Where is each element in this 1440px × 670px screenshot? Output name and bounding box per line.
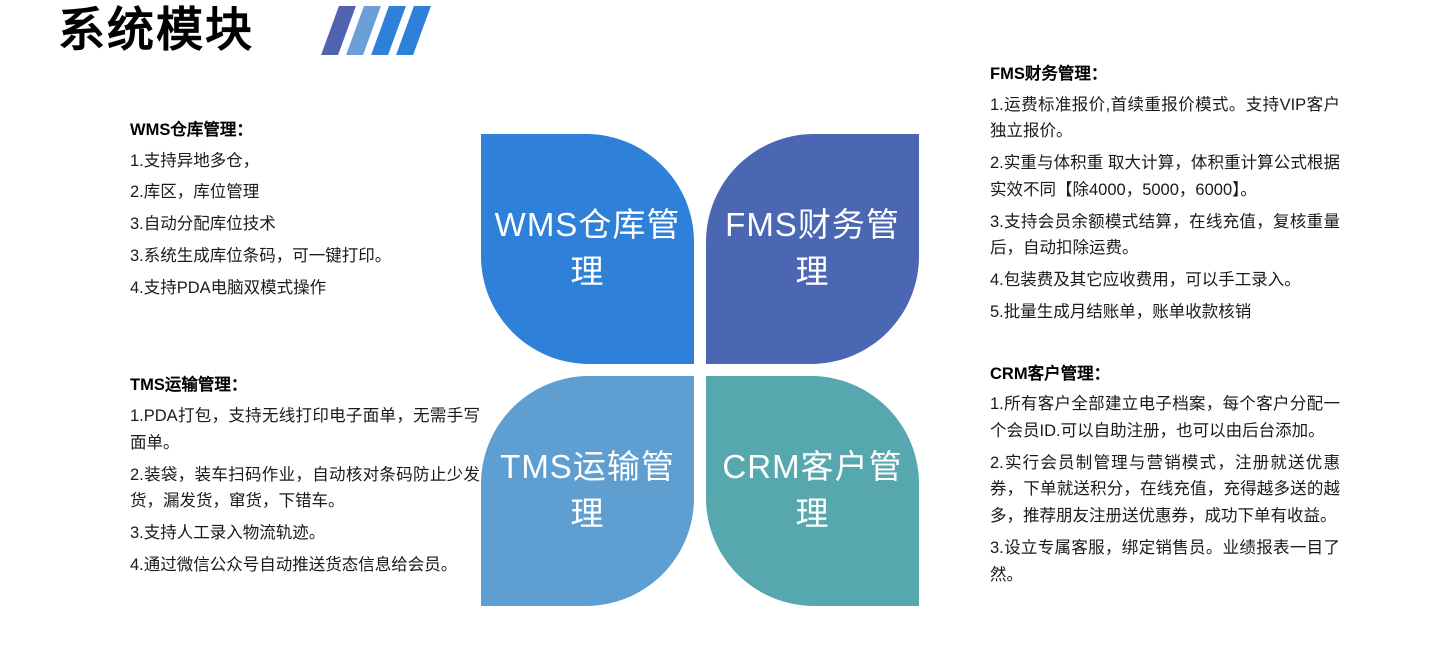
section-tms-item: 4.通过微信公众号自动推送货态信息给会员。 (130, 552, 480, 579)
section-fms: FMS财务管理： 1.运费标准报价,首续重报价模式。支持VIP客户独立报价。 2… (990, 62, 1340, 326)
section-wms-heading: WMS仓库管理： (130, 118, 480, 143)
petal-crm-label: CRM客户管理 (718, 444, 907, 538)
petal-wms-label: WMS仓库管理 (493, 202, 682, 296)
section-tms-item: 3.支持人工录入物流轨迹。 (130, 520, 480, 547)
section-crm-item: 3.设立专属客服，绑定销售员。业绩报表一目了然。 (990, 535, 1340, 588)
petal-fms[interactable]: FMS财务管理 (706, 134, 919, 364)
section-wms: WMS仓库管理： 1.支持异地多仓， 2.库区，库位管理 3.自动分配库位技术 … (130, 118, 480, 301)
section-wms-item: 3.自动分配库位技术 (130, 211, 480, 238)
section-fms-item: 4.包装费及其它应收费用，可以手工录入。 (990, 267, 1340, 294)
section-tms-item: 1.PDA打包，支持无线打印电子面单，无需手写面单。 (130, 403, 480, 456)
section-fms-item: 1.运费标准报价,首续重报价模式。支持VIP客户独立报价。 (990, 92, 1340, 145)
petal-tms[interactable]: TMS运输管理 (481, 376, 694, 606)
section-tms: TMS运输管理： 1.PDA打包，支持无线打印电子面单，无需手写面单。 2.装袋… (130, 373, 480, 578)
section-wms-item: 1.支持异地多仓， (130, 148, 480, 175)
right-text-column: FMS财务管理： 1.运费标准报价,首续重报价模式。支持VIP客户独立报价。 2… (990, 62, 1340, 593)
section-wms-item: 2.库区，库位管理 (130, 179, 480, 206)
section-fms-heading: FMS财务管理： (990, 62, 1340, 87)
petal-tms-label: TMS运输管理 (493, 444, 682, 538)
section-crm-item: 1.所有客户全部建立电子档案，每个客户分配一个会员ID.可以自助注册，也可以由后… (990, 391, 1340, 444)
petal-fms-label: FMS财务管理 (718, 202, 907, 296)
section-fms-item: 5.批量生成月结账单，账单收款核销 (990, 299, 1340, 326)
slide-header: 系统模块 (58, 4, 430, 56)
section-crm: CRM客户管理： 1.所有客户全部建立电子档案，每个客户分配一个会员ID.可以自… (990, 362, 1340, 589)
petal-crm[interactable]: CRM客户管理 (706, 376, 919, 606)
section-fms-item: 3.支持会员余额模式结算，在线充值，复核重量后，自动扣除运费。 (990, 209, 1340, 262)
module-petal-diagram: WMS仓库管理 FMS财务管理 TMS运输管理 CRM客户管理 (481, 134, 919, 624)
section-wms-item: 4.支持PDA电脑双模式操作 (130, 275, 480, 302)
section-fms-item: 2.实重与体积重 取大计算，体积重计算公式根据实效不同【除4000，5000，6… (990, 150, 1340, 203)
left-text-column: WMS仓库管理： 1.支持异地多仓， 2.库区，库位管理 3.自动分配库位技术 … (130, 118, 480, 583)
section-crm-heading: CRM客户管理： (990, 362, 1340, 387)
section-crm-item: 2.实行会员制管理与营销模式，注册就送优惠券，下单就送积分，在线充值，充得越多送… (990, 450, 1340, 530)
section-wms-item: 3.系统生成库位条码，可一键打印。 (130, 243, 480, 270)
title-accent-slashes-icon (330, 6, 430, 55)
page-title: 系统模块 (58, 4, 254, 56)
petal-wms[interactable]: WMS仓库管理 (481, 134, 694, 364)
section-tms-heading: TMS运输管理： (130, 373, 480, 398)
section-tms-item: 2.装袋，装车扫码作业，自动核对条码防止少发货，漏发货，窜货，下错车。 (130, 462, 480, 515)
